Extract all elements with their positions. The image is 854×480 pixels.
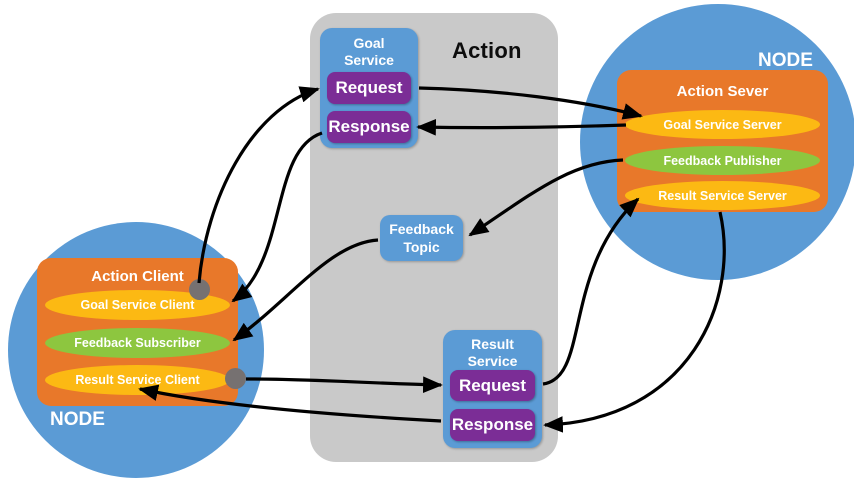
result-service-title-line1: Result [443,336,542,353]
feedback-topic-title-line1: Feedback [389,220,454,238]
action-server-title: Action Sever [617,83,828,100]
goal-service-response-label: Response [328,117,409,137]
pill-label: Result Service Server [658,189,787,203]
client-node-label: NODE [50,409,105,431]
pill-label: Goal Service Client [81,298,195,312]
goal-service-response[interactable]: Response [327,111,411,143]
client-entity-result-service-client[interactable]: Result Service Client [45,365,230,395]
server-node-label: NODE [758,50,813,72]
result-service-request-label: Request [459,376,526,396]
diagram-canvas: Action NODE Action Client Goal Service C… [0,0,854,480]
server-entity-feedback-publisher[interactable]: Feedback Publisher [625,146,820,175]
result-service-request[interactable]: Request [450,370,535,401]
feedback-topic-title-line2: Topic [389,238,454,256]
pill-label: Feedback Subscriber [74,336,200,350]
arrow-response-to-goal-client [233,133,322,301]
goal-service-request[interactable]: Request [327,72,411,104]
server-entity-goal-service-server[interactable]: Goal Service Server [625,110,820,139]
goal-service-title-line1: Goal [320,35,418,52]
action-panel-title: Action [452,38,522,64]
feedback-topic-box[interactable]: Feedback Topic [380,215,463,261]
connector-dot-result-client [225,368,246,389]
result-service-response-label: Response [452,415,533,435]
server-entity-result-service-server[interactable]: Result Service Server [625,181,820,210]
result-service-response[interactable]: Response [450,409,535,441]
connector-dot-goal-client [189,279,210,300]
client-entity-feedback-subscriber[interactable]: Feedback Subscriber [45,328,230,358]
goal-service-title-line2: Service [320,52,418,69]
goal-service-request-label: Request [335,78,402,98]
pill-label: Result Service Client [75,373,199,387]
pill-label: Feedback Publisher [663,154,781,168]
result-service-title-line2: Service [443,353,542,370]
pill-label: Goal Service Server [663,118,781,132]
